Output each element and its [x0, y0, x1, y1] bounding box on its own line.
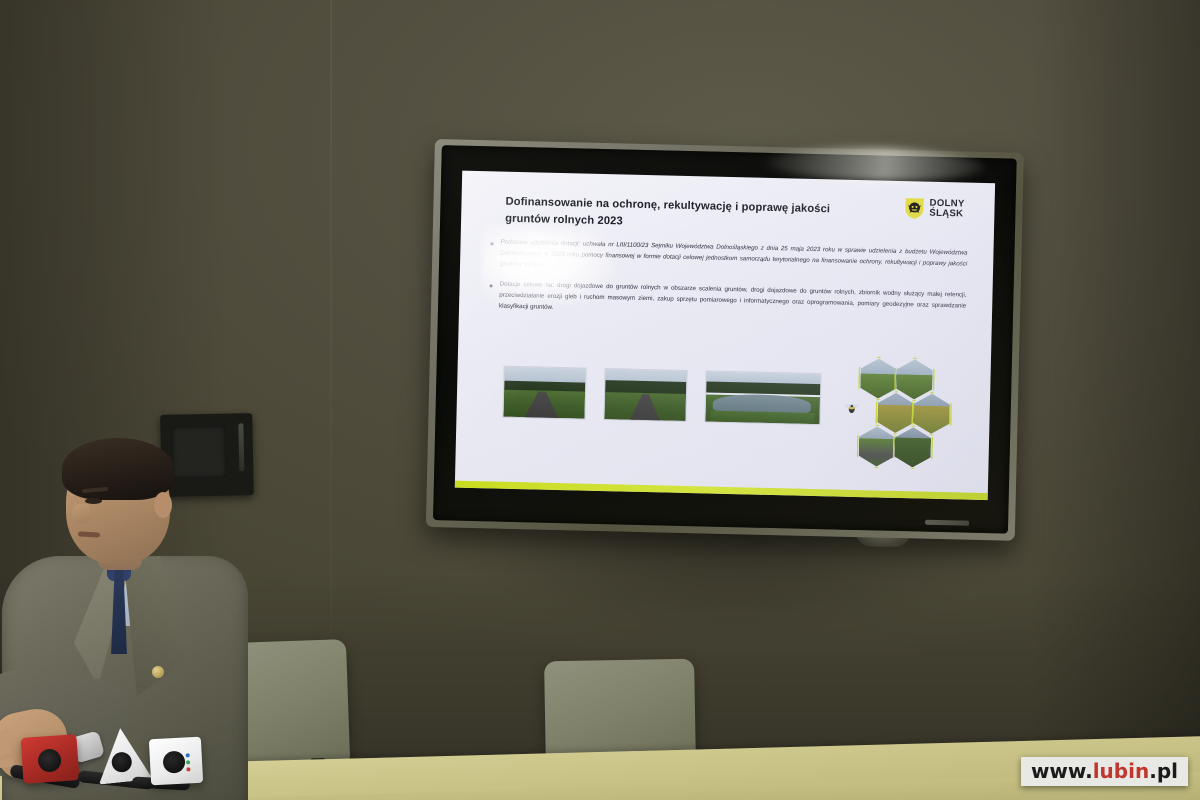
slide-title: Dofinansowanie na ochronę, rekultywację … [505, 194, 876, 237]
ear [154, 492, 172, 518]
display-ir-sensor [855, 530, 911, 547]
mic-white-cube [149, 737, 203, 786]
bullet-purposes-text: Dotacje celowe na: drogi dojazdowe do gr… [499, 279, 967, 323]
watermark-brand: lubin [1093, 759, 1150, 783]
watermark-prefix: www. [1031, 759, 1093, 783]
mouth [78, 531, 100, 537]
slide-photo-row [502, 366, 821, 425]
watermark-suffix: .pl [1149, 759, 1178, 783]
watermark: www.lubin.pl [1021, 757, 1188, 786]
presentation-display: Dofinansowanie na ochronę, rekultywację … [426, 139, 1024, 541]
display-brand-mark [925, 520, 969, 526]
bullet-item: Dotacje celowe na: drogi dojazdowe do gr… [489, 279, 967, 323]
bullet-dot-icon [490, 284, 493, 287]
mic-grille [111, 751, 133, 773]
bullet-item: Podstawa udzielenia dotacji: uchwała nr … [490, 237, 968, 281]
screenshot-scene: Dofinansowanie na ochronę, rekultywację … [0, 0, 1200, 800]
slide-bullet-list: Podstawa udzielenia dotacji: uchwała nr … [489, 237, 968, 332]
bee-icon [844, 400, 860, 416]
nose [72, 504, 90, 524]
mic-grille [37, 748, 62, 773]
lapel-pin [152, 666, 164, 678]
bullet-dot-icon [491, 242, 494, 245]
logo-wordmark: DOLNY ŚLĄSK [929, 199, 965, 219]
hair [62, 438, 174, 500]
mic-grille [162, 751, 185, 774]
photo-pond [704, 370, 821, 425]
bullet-basis-text: Podstawa udzielenia dotacji: uchwała nr … [500, 238, 968, 282]
mic-logo-dots [186, 753, 198, 780]
dolny-slask-logo: DOLNY ŚLĄSK [904, 197, 965, 220]
mic-red [20, 734, 79, 784]
hexagon-collage [848, 356, 971, 471]
photo-road-2 [603, 368, 687, 422]
eagle-shield-icon [904, 197, 925, 219]
wall-edge [330, 0, 332, 640]
photo-road-1 [502, 366, 586, 420]
watermark-text: www.lubin.pl [1031, 761, 1178, 781]
logo-line-2: ŚLĄSK [929, 209, 964, 220]
presentation-slide: Dofinansowanie na ochronę, rekultywację … [455, 171, 995, 500]
